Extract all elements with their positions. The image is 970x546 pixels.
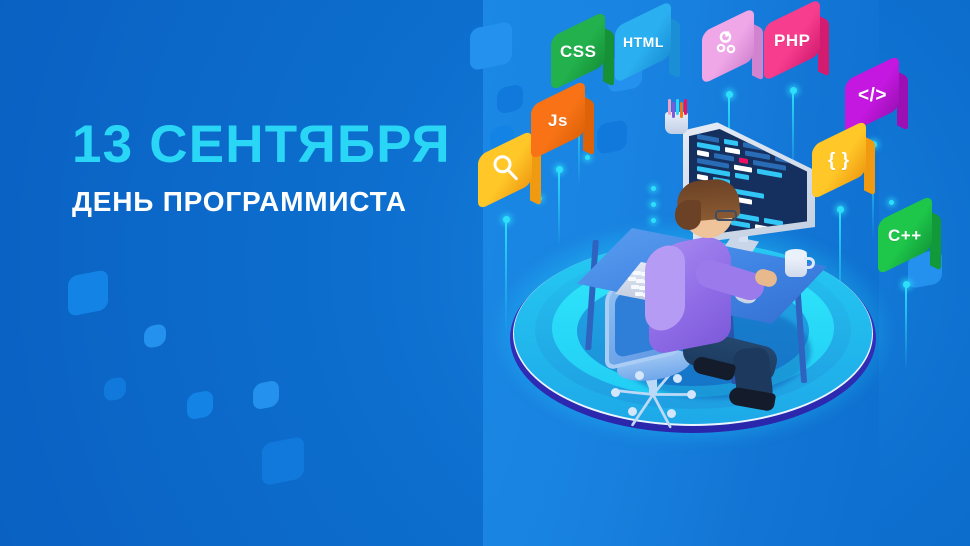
pen [684, 99, 687, 115]
badge-braces[interactable]: { } [812, 133, 876, 209]
code-line-segment [764, 218, 783, 226]
code-line-segment [731, 220, 750, 228]
pen [672, 102, 675, 118]
badge-css-label: CSS [560, 43, 596, 60]
person-sideburn [675, 200, 701, 230]
pen [680, 102, 683, 118]
badge-html[interactable]: HTML [615, 14, 679, 90]
page-subtitle: ДЕНЬ ПРОГРАММИСТА [72, 188, 492, 216]
pen-cup [665, 112, 688, 134]
chair-caster [673, 374, 682, 383]
decorative-square [253, 379, 279, 410]
code-line-segment [734, 165, 752, 173]
code-line-segment [757, 169, 782, 178]
pen [676, 99, 679, 115]
chair-caster [635, 371, 644, 380]
code-line-segment [725, 147, 740, 155]
chair-caster [687, 390, 696, 399]
decorative-square [144, 323, 166, 349]
decorative-square [104, 376, 126, 402]
chair-base-arm [653, 393, 691, 396]
decorative-square [68, 269, 108, 317]
chair-caster [628, 407, 637, 416]
badge-css[interactable]: CSS [551, 24, 615, 100]
badge-code-label: </> [858, 86, 887, 105]
desk-leg-left [585, 240, 599, 350]
badge-connector-line [905, 284, 907, 371]
badge-cpp[interactable]: C++ [878, 208, 942, 284]
code-line-segment [735, 173, 749, 180]
code-line-segment [697, 150, 709, 157]
chair-caster [667, 409, 676, 418]
chair-caster [611, 388, 620, 397]
accent-dot [889, 200, 894, 205]
badge-js-label: Js [548, 112, 568, 129]
code-line-segment [745, 150, 770, 159]
page-title: 13 СЕНТЯБРЯ [72, 118, 492, 171]
headline-block: 13 СЕНТЯБРЯ ДЕНЬ ПРОГРАММИСТА [72, 118, 492, 216]
badge-html-label: HTML [623, 35, 664, 49]
gears-icon [712, 28, 744, 65]
keyboard-key [633, 271, 641, 275]
person-shoulder [645, 242, 685, 335]
code-line-segment [724, 139, 738, 146]
decorative-square [262, 436, 304, 486]
pen [668, 99, 671, 115]
badge-gears[interactable] [702, 20, 766, 96]
keyboard-key [635, 292, 643, 296]
poster-canvas: 13 СЕНТЯБРЯ ДЕНЬ ПРОГРАММИСТА [0, 0, 970, 546]
chair-base-arm [615, 389, 653, 396]
badge-php[interactable]: PHP [764, 12, 828, 88]
code-line-segment [739, 157, 748, 164]
keyboard-key [628, 277, 636, 281]
badge-js[interactable]: Js [531, 93, 595, 169]
badge-cpp-label: C++ [888, 227, 922, 244]
badge-braces-label: { } [828, 151, 850, 170]
code-line-segment [697, 134, 719, 143]
search-icon [490, 153, 520, 188]
code-line-segment [714, 153, 734, 162]
keyboard-key [636, 279, 644, 283]
badge-php-label: PHP [774, 32, 810, 49]
badge-php-face: PHP [764, 0, 820, 82]
decorative-square [187, 389, 213, 420]
keyboard-key [631, 285, 639, 289]
glasses-icon [715, 210, 737, 221]
